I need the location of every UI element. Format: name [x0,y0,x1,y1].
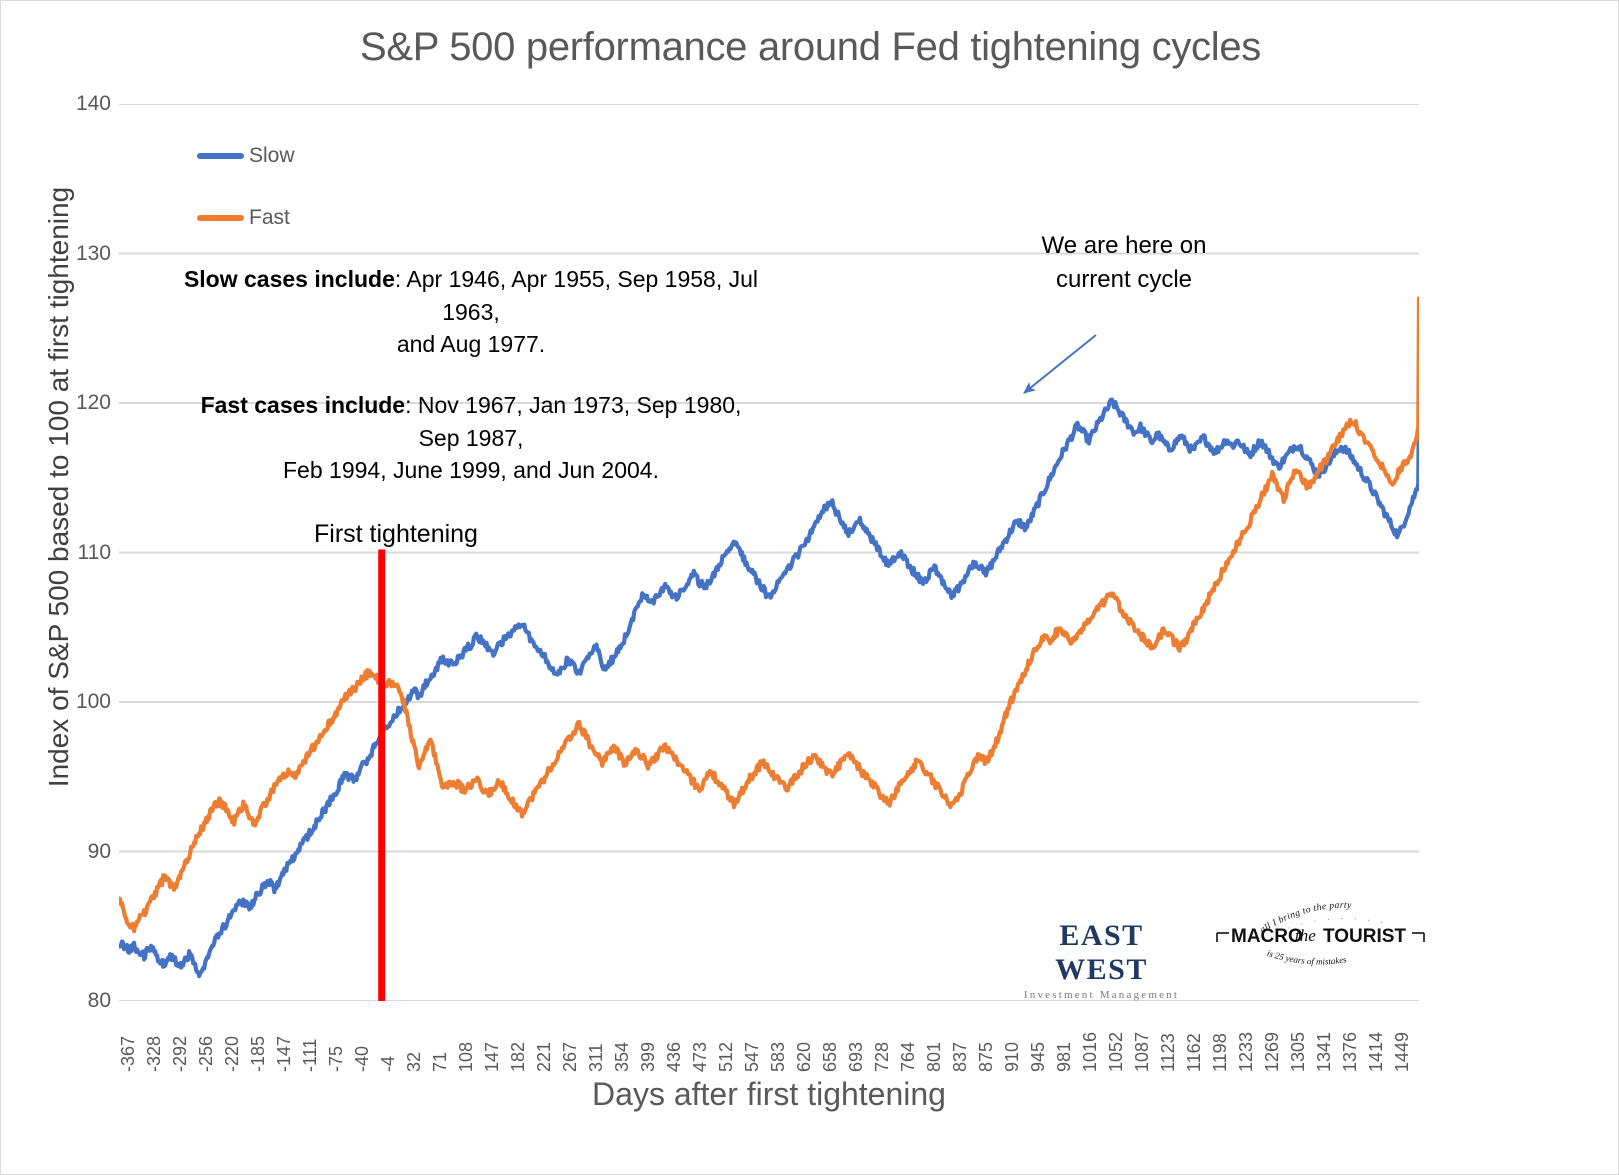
x-tick-label: 71 [430,1052,451,1072]
x-tick-label: 620 [794,1042,815,1072]
fast-cases-line2: Feb 1994, June 1999, and Jun 2004. [283,457,659,483]
legend-label-fast: Fast [249,206,290,230]
chart-frame: S&P 500 performance around Fed tightenin… [0,0,1619,1175]
x-tick-label: 267 [560,1042,581,1072]
x-tick-label: 32 [404,1052,425,1072]
fast-cases-note: Fast cases include: Nov 1967, Jan 1973, … [181,389,761,487]
x-tick-label: 801 [924,1042,945,1072]
x-tick-label: 764 [898,1042,919,1072]
we-are-here-line2: current cycle [1056,266,1192,293]
macro-logo-bottom-arc: is 25 years of mistakes [1266,948,1348,967]
annotation-arrow-icon [1001,321,1121,411]
x-tick-label: 981 [1054,1042,1075,1072]
x-tick-label: -292 [170,1036,191,1072]
x-tick-label: 547 [742,1042,763,1072]
chart-legend: Slow Fast [197,143,295,267]
x-tick-label: 658 [820,1042,841,1072]
first-tightening-label: First tightening [314,520,478,549]
macro-logo-main-3: TOURIST [1323,926,1406,947]
x-tick-label: -367 [118,1036,139,1072]
x-tick-label: 1341 [1314,1032,1335,1072]
we-are-here-line1: We are here on [1042,232,1207,259]
macro-logo-main-1: MACRO [1231,926,1303,947]
x-tick-label: 1269 [1262,1032,1283,1072]
x-axis-tick-labels: -367-328-292-256-220-185-147-111-75-40-4… [119,1006,1419,1072]
slow-cases-line2: and Aug 1977. [397,331,545,357]
page-title: S&P 500 performance around Fed tightenin… [1,25,1619,70]
x-tick-label: -220 [222,1036,243,1072]
y-axis-tick-labels: 8090100110120130140 [41,104,111,1001]
x-tick-label: 1052 [1106,1032,1127,1072]
legend-swatch-fast [197,215,244,221]
y-tick-label: 140 [51,92,111,116]
x-tick-label: 945 [1028,1042,1049,1072]
x-tick-label: 1123 [1158,1033,1179,1072]
y-tick-label: 100 [51,690,111,714]
east-west-logo-main: EAST WEST [1014,919,1189,987]
x-tick-label: 1449 [1392,1032,1413,1072]
fast-cases-rest: : Nov 1967, Jan 1973, Sep 1980, Sep 1987… [405,392,741,451]
east-west-logo-sub: Investment Management [1014,989,1189,1001]
x-tick-label: 1376 [1340,1032,1361,1072]
x-tick-label: 693 [846,1042,867,1072]
x-tick-label: 1414 [1366,1032,1387,1072]
legend-item-fast[interactable]: Fast [197,205,295,231]
y-tick-label: 80 [51,989,111,1013]
x-tick-label: 1087 [1132,1032,1153,1072]
x-tick-label: 910 [1002,1042,1023,1072]
x-tick-label: 1305 [1288,1032,1309,1072]
x-tick-label: 1016 [1080,1032,1101,1072]
x-tick-label: -328 [144,1036,165,1072]
x-tick-label: -185 [248,1036,269,1072]
x-tick-label: 1198 [1210,1033,1231,1072]
legend-item-slow[interactable]: Slow [197,143,295,169]
x-tick-label: 221 [534,1042,555,1072]
case-notes: Slow cases include: Apr 1946, Apr 1955, … [181,263,761,515]
x-tick-label: -256 [196,1036,217,1072]
legend-swatch-slow [197,153,244,159]
y-tick-label: 110 [51,541,111,565]
x-tick-label: 1233 [1236,1032,1257,1072]
fast-cases-bold: Fast cases include [201,392,406,418]
slow-cases-bold: Slow cases include [184,266,395,292]
x-tick-label: -111 [300,1039,321,1072]
we-are-here-annotation: We are here on current cycle [1009,229,1239,296]
y-tick-label: 130 [51,242,111,266]
x-tick-label: 108 [456,1042,477,1072]
macro-tourist-logo: all I bring to the party · · · · · · · ·… [1213,876,1428,971]
x-tick-label: 473 [690,1042,711,1072]
macro-logo-wordmark: MACRO the TOURIST [1231,926,1406,947]
x-tick-label: 147 [482,1042,503,1072]
x-axis-title: Days after first tightening [119,1076,1419,1113]
x-tick-label: 837 [950,1042,971,1072]
legend-label-slow: Slow [249,144,295,168]
x-tick-label: 311 [586,1043,607,1072]
x-tick-label: -4 [378,1056,399,1072]
x-tick-label: 436 [664,1042,685,1072]
x-tick-label: 512 [716,1042,737,1072]
x-tick-label: -40 [352,1046,373,1072]
macro-logo-main-2: the [1295,926,1316,945]
x-tick-label: 728 [872,1042,893,1072]
slow-cases-rest: : Apr 1946, Apr 1955, Sep 1958, Jul 1963… [395,266,758,325]
east-west-logo: EAST WEST Investment Management [1014,919,1189,1001]
x-tick-label: 583 [768,1042,789,1072]
x-tick-label: 1162 [1184,1033,1205,1072]
y-tick-label: 90 [51,840,111,864]
x-tick-label: -147 [274,1036,295,1072]
svg-text:is 25 years of mistakes: is 25 years of mistakes [1266,948,1348,967]
x-tick-label: 399 [638,1042,659,1072]
slow-cases-note: Slow cases include: Apr 1946, Apr 1955, … [181,263,761,361]
y-tick-label: 120 [51,391,111,415]
x-tick-label: -75 [326,1046,347,1072]
x-tick-label: 182 [508,1042,529,1072]
x-tick-label: 354 [612,1042,633,1072]
x-tick-label: 875 [976,1042,997,1072]
